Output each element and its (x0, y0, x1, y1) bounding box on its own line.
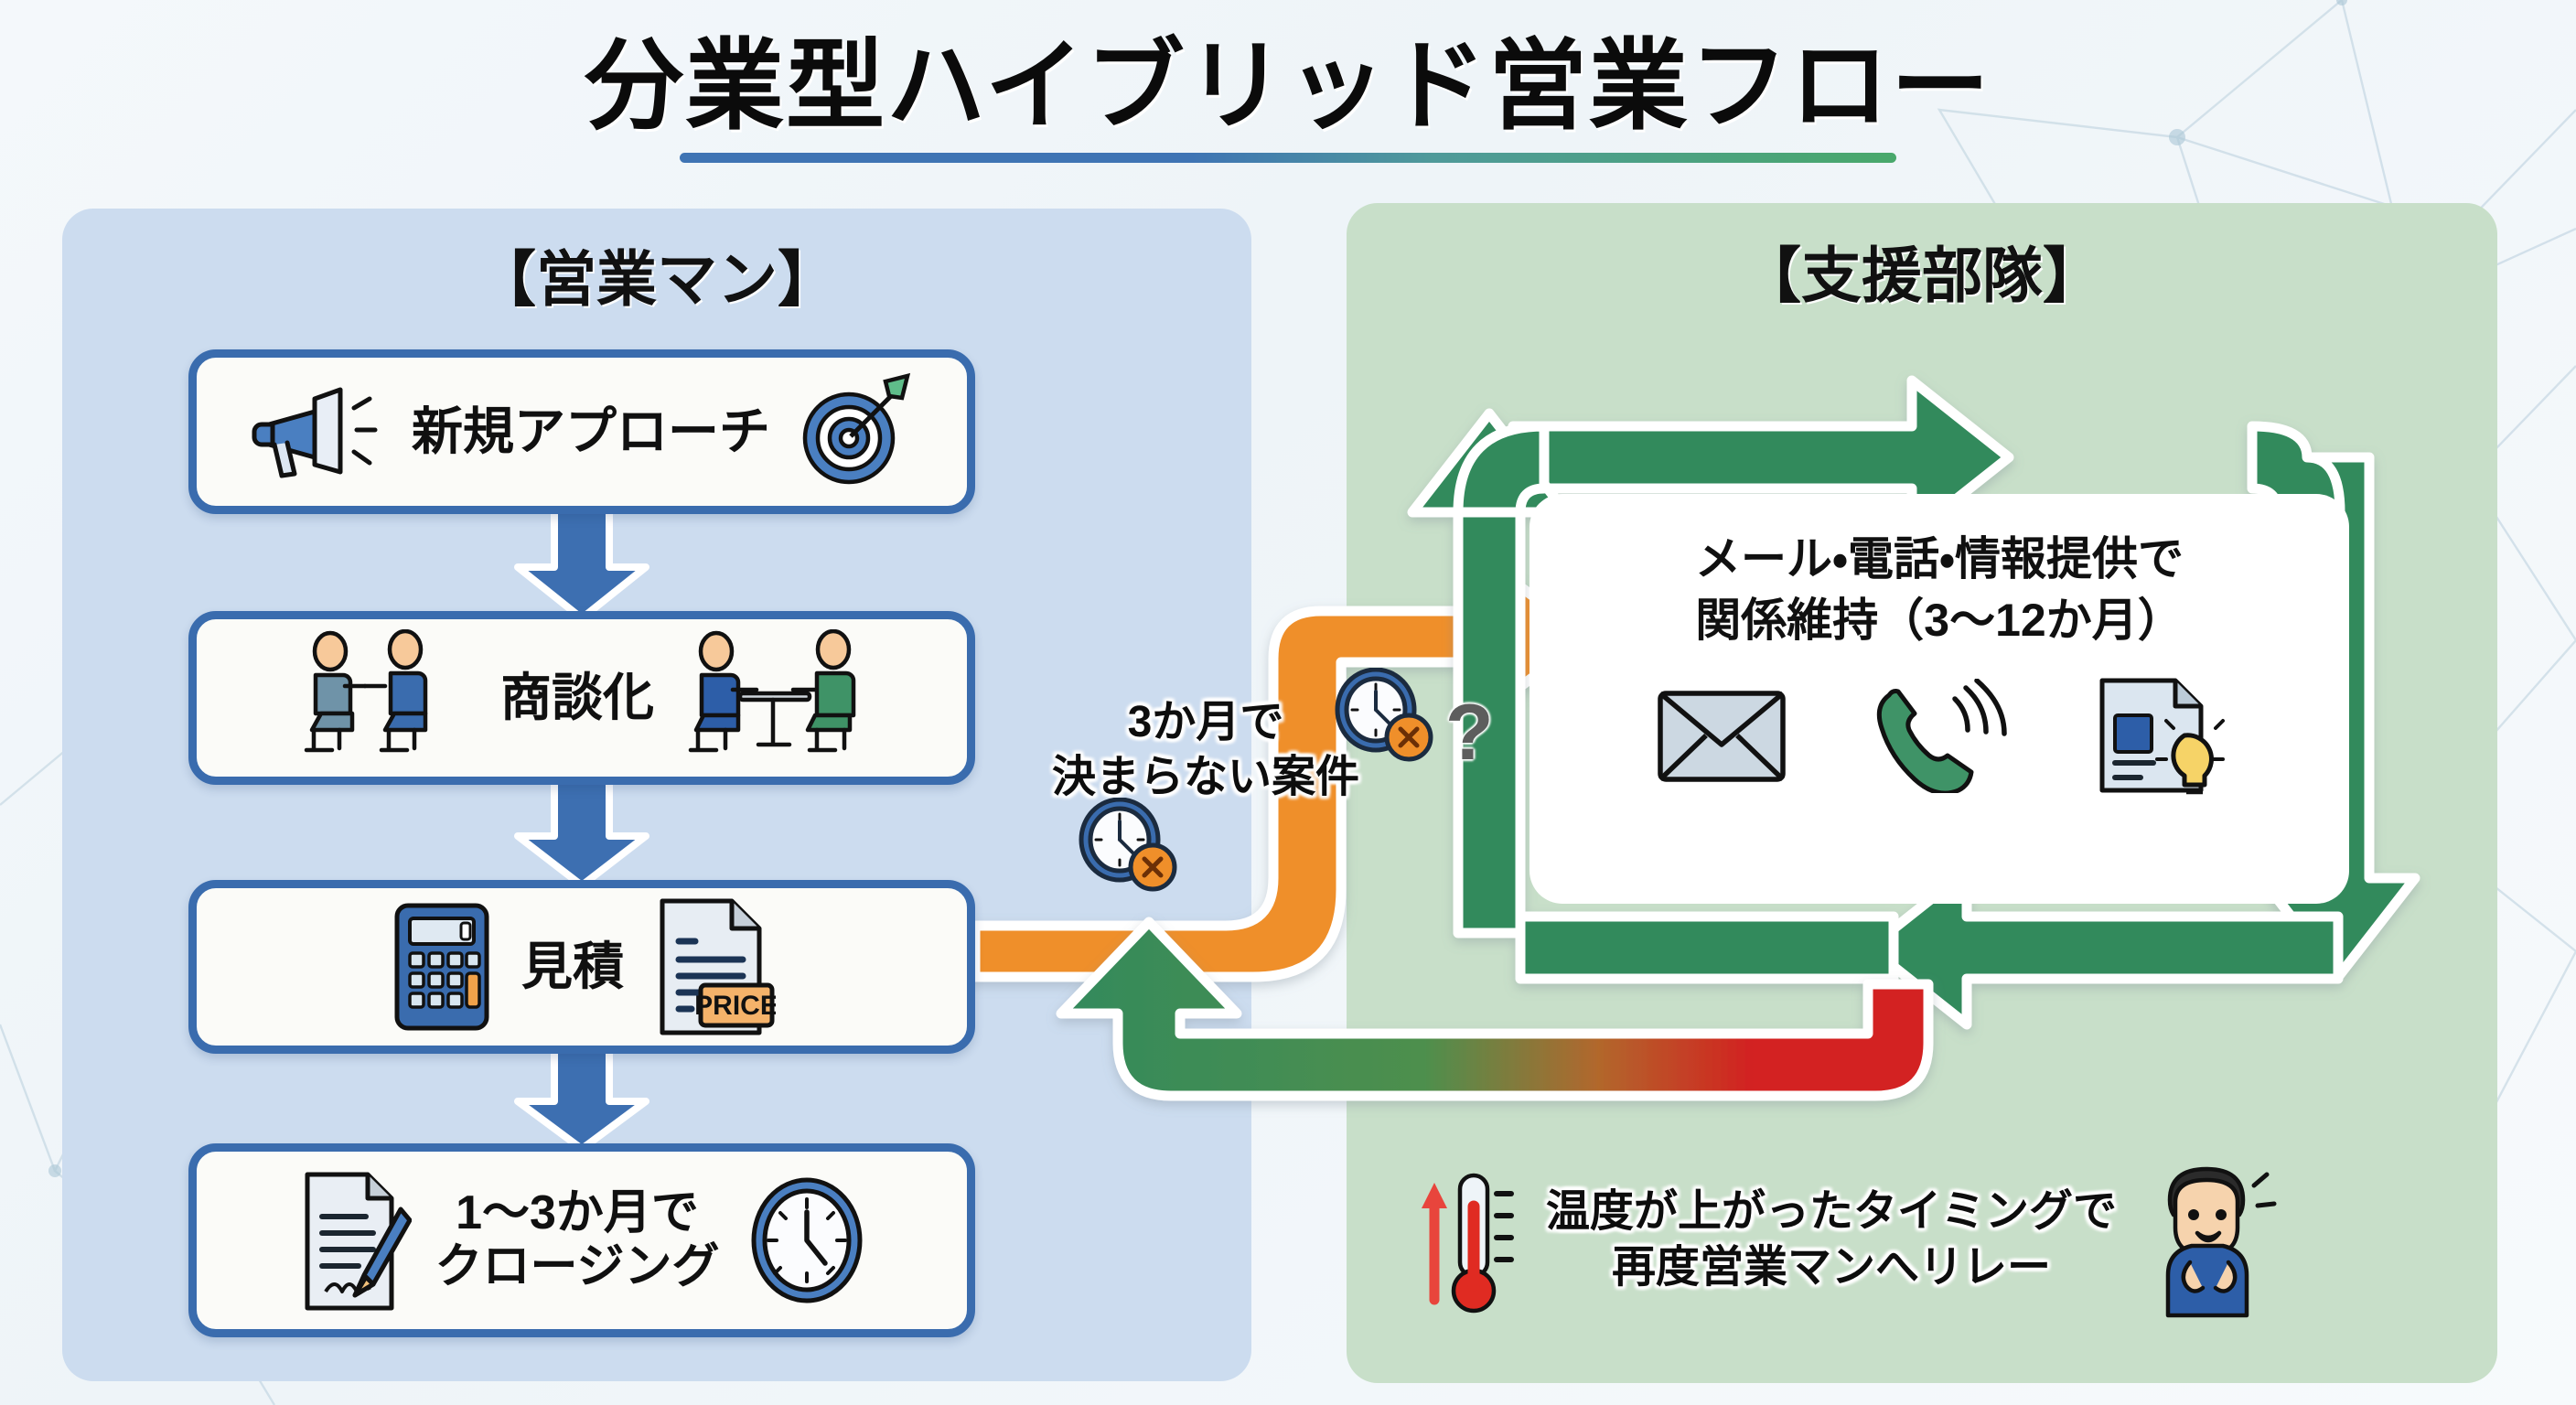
page-title-block: 分業型ハイブリッド営業フロー (0, 33, 2576, 163)
two-people-seated-icon (294, 629, 477, 767)
card-closing-label: 1〜3か月で クロージング (435, 1186, 720, 1295)
card-negotiation-label: 商談化 (500, 669, 654, 727)
megaphone-icon (251, 377, 388, 487)
relay-line1: 温度が上がったタイミングで (1546, 1185, 2117, 1239)
blue-connector-arrow-2 (512, 779, 651, 887)
card-quotation[interactable]: 見積 PRICE (188, 880, 975, 1054)
price-document-icon: PRICE (648, 894, 776, 1040)
title-underline (680, 153, 1896, 163)
support-activity-box[interactable]: メール・電話・情報提供で 関係維持（3〜12か月） (1529, 494, 2349, 904)
relay-label: 温度が上がったタイミングで 再度営業マンへリレー (1416, 1160, 2283, 1320)
question-mark-icon: ? (1445, 688, 1494, 778)
stalled-deal-label: 3か月で 決まらない案件 (1052, 695, 1359, 806)
card-new-approach[interactable]: 新規アプローチ (188, 349, 975, 514)
support-box-icons (1653, 675, 2227, 796)
support-panel-heading: 【支援部隊】 (1347, 227, 2497, 315)
clock-icon (743, 1172, 871, 1309)
signed-document-icon (293, 1167, 412, 1314)
stalled-deal-line1: 3か月で (1052, 695, 1359, 750)
calculator-icon (388, 898, 498, 1035)
meeting-table-icon (678, 629, 870, 767)
document-lightbulb-icon (2089, 675, 2227, 796)
sales-panel-heading: 【営業マン】 (62, 231, 1251, 318)
price-badge-text: PRICE (694, 991, 776, 1021)
thermometer-rising-icon (1416, 1163, 1526, 1318)
phone-ringing-icon (1869, 679, 2011, 793)
card-negotiation[interactable]: 商談化 (188, 611, 975, 785)
clock-cross-icon (1072, 798, 1180, 896)
mail-icon (1653, 684, 1790, 787)
card-closing-label-line2: クロージング (435, 1240, 720, 1294)
card-closing-label-line1: 1〜3か月で (435, 1186, 720, 1240)
clock-cross-icon (1328, 668, 1436, 767)
card-new-approach-label: 新規アプローチ (412, 402, 770, 461)
blue-connector-arrow-3 (512, 1048, 651, 1151)
support-box-line2: 関係維持（3〜12か月） (1695, 590, 2183, 651)
blue-connector-arrow-1 (512, 509, 651, 620)
page-title: 分業型ハイブリッド営業フロー (0, 33, 2576, 140)
support-box-line1: メール・電話・情報提供で (1695, 529, 2184, 590)
target-icon (794, 372, 913, 491)
card-closing[interactable]: 1〜3か月で クロージング (188, 1143, 975, 1337)
relay-line2: 再度営業マンへリレー (1546, 1240, 2117, 1295)
card-quotation-label: 見積 (521, 938, 624, 996)
excited-person-icon (2137, 1160, 2283, 1320)
